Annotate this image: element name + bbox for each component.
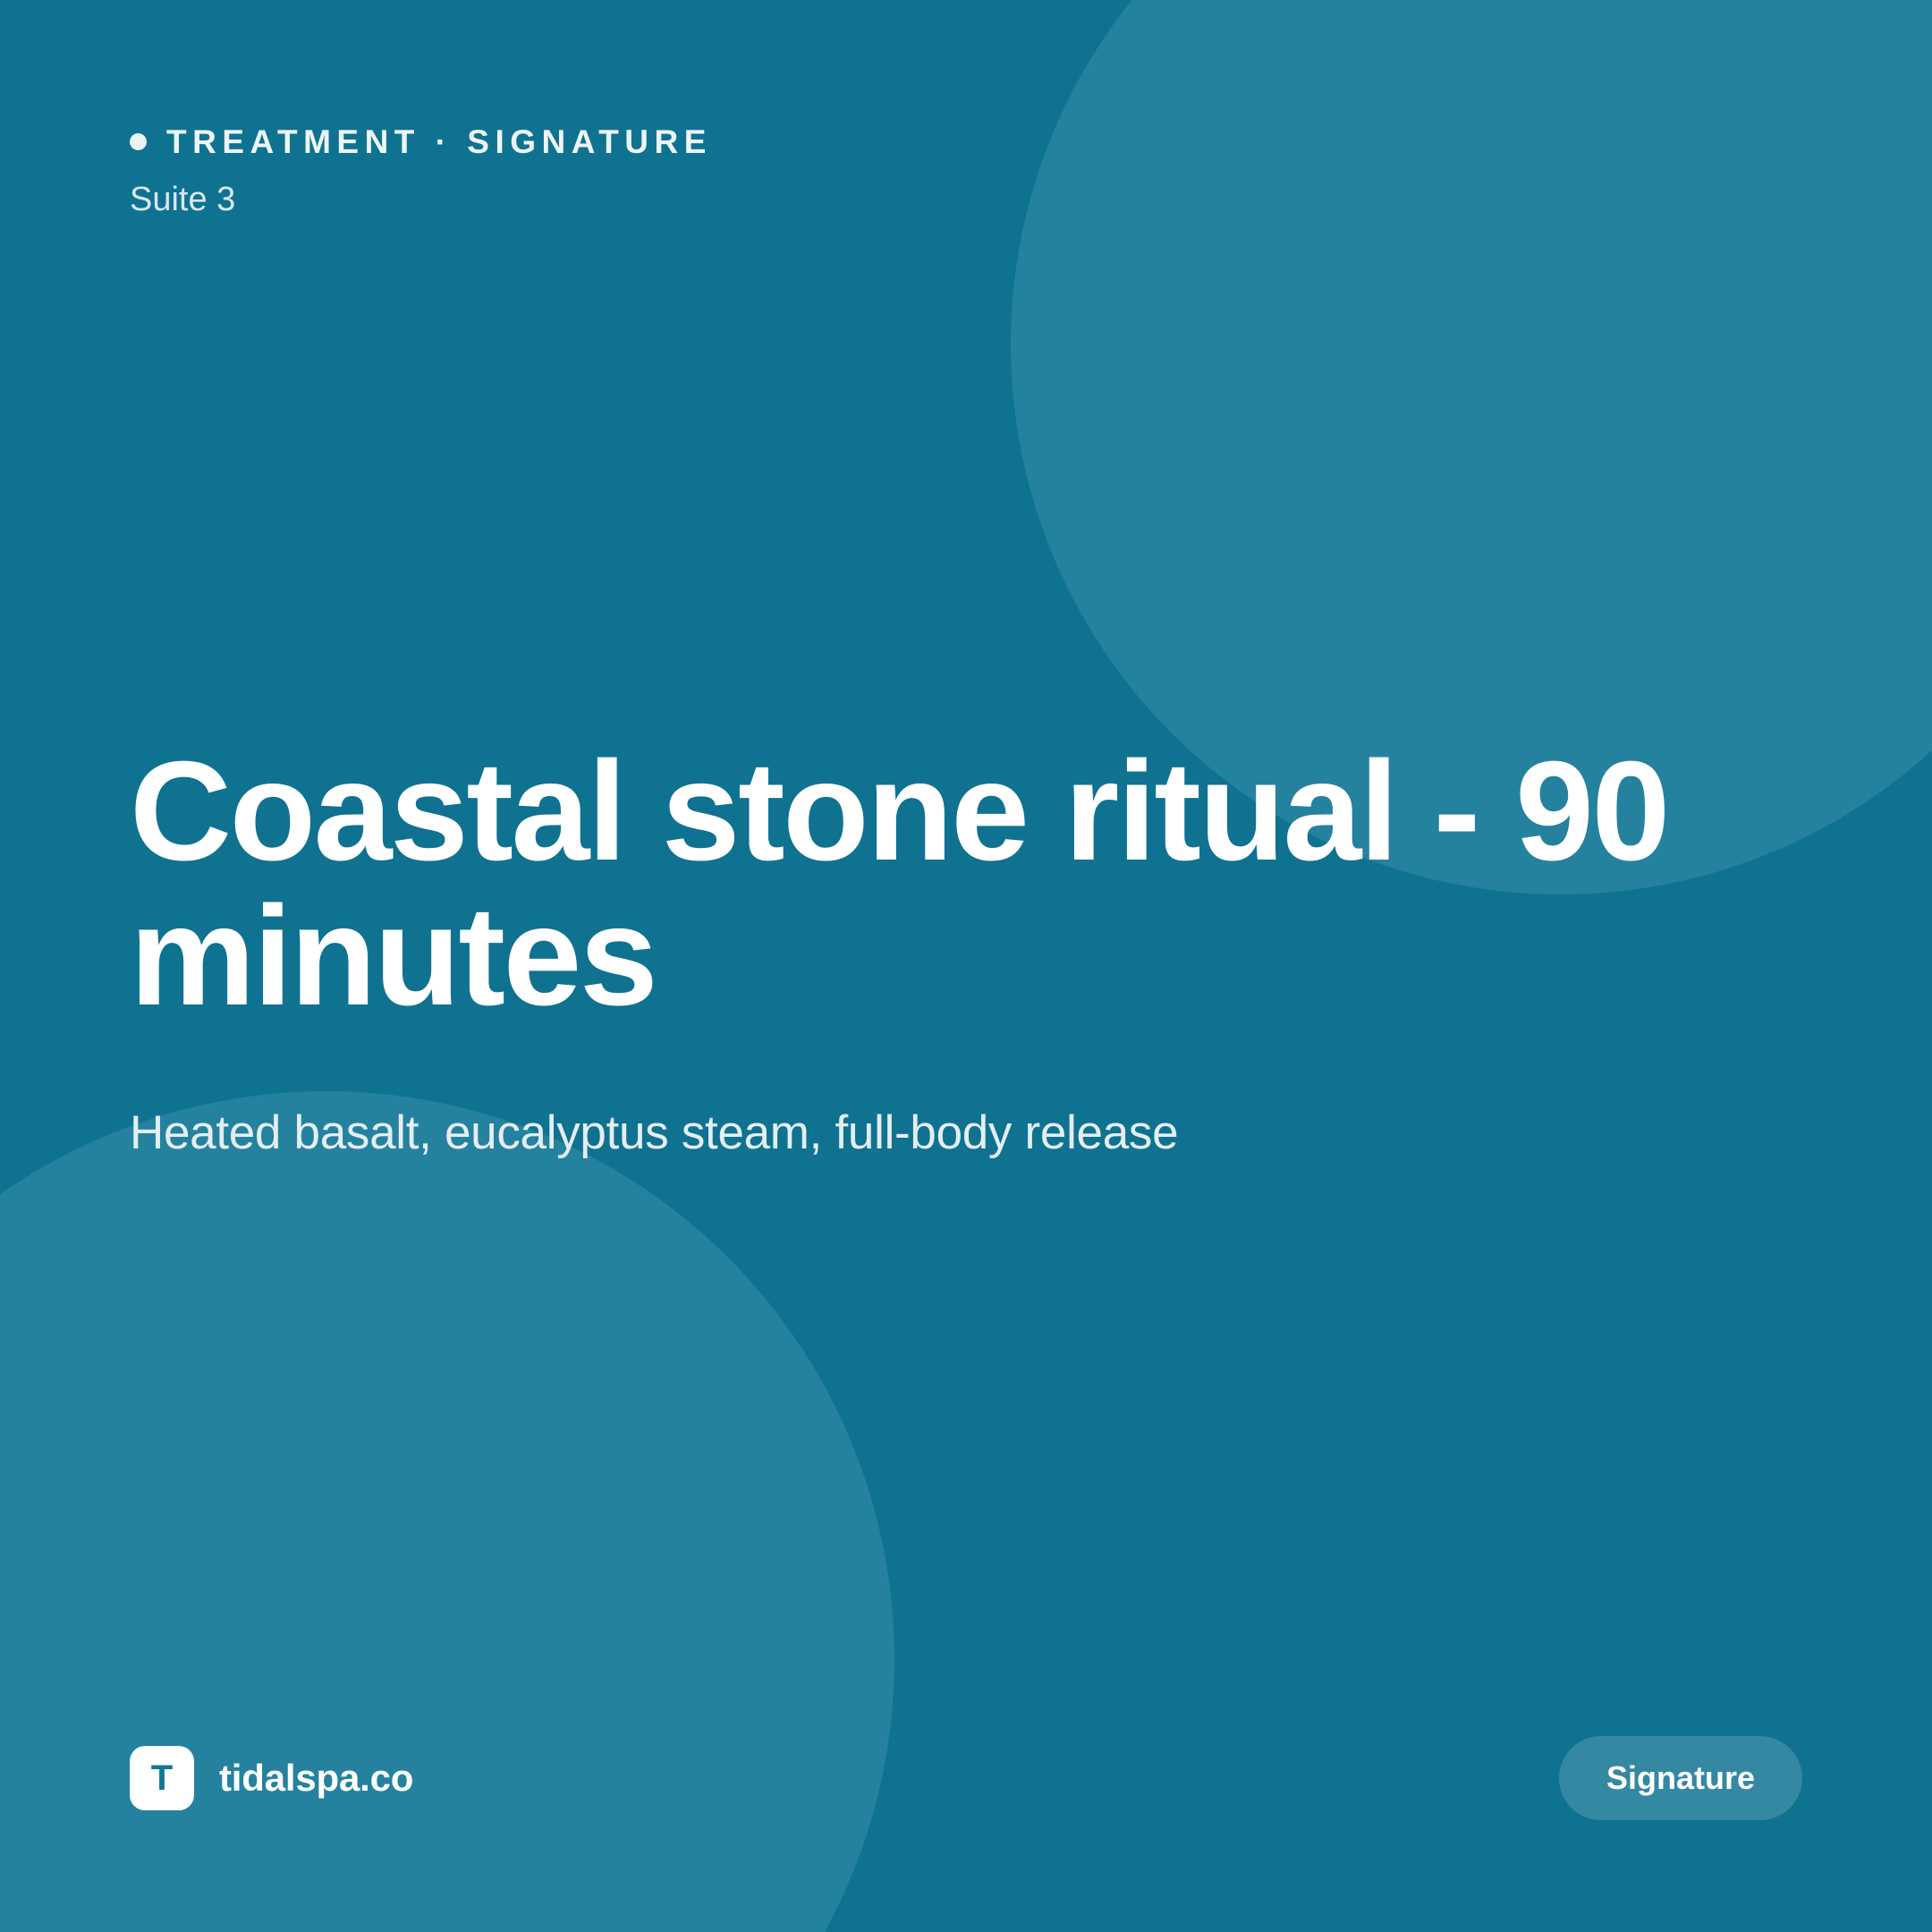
signature-badge[interactable]: Signature <box>1559 1736 1802 1820</box>
brand-name-label: tidalspa.co <box>219 1757 413 1800</box>
card-footer: T tidalspa.co Signature <box>130 1736 1802 1820</box>
brand-lockup[interactable]: T tidalspa.co <box>130 1746 413 1810</box>
eyebrow-label: TREATMENT · SIGNATURE <box>166 125 712 158</box>
subhead-label: Suite 3 <box>130 180 1802 221</box>
eyebrow: TREATMENT · SIGNATURE <box>130 125 1802 158</box>
card-content: TREATMENT · SIGNATURE Suite 3 Coastal st… <box>0 0 1932 1932</box>
brand-initial: T <box>151 1760 173 1796</box>
page-title: Coastal stone ritual - 90 minutes <box>130 739 1740 1030</box>
card-header: TREATMENT · SIGNATURE Suite 3 <box>130 125 1802 221</box>
page-subtitle: Heated basalt, eucalyptus steam, full-bo… <box>130 1103 1802 1165</box>
hero-block: Coastal stone ritual - 90 minutes Heated… <box>130 739 1802 1218</box>
brand-logo-icon: T <box>130 1746 194 1810</box>
bullet-dot-icon <box>130 133 147 150</box>
social-card: TREATMENT · SIGNATURE Suite 3 Coastal st… <box>0 0 1932 1932</box>
